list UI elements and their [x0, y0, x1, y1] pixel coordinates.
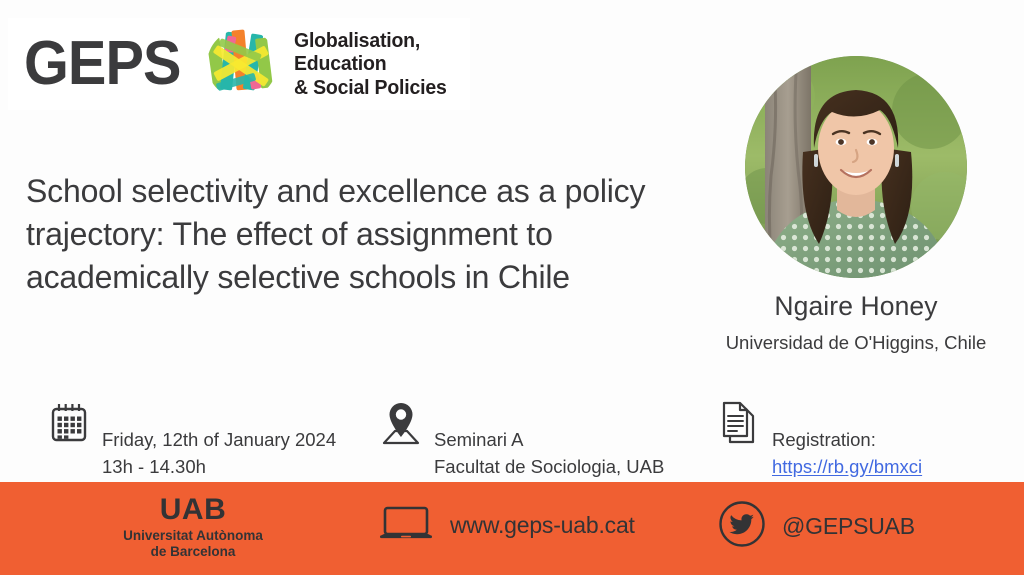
uab-logo: UAB Universitat Autònoma de Barcelona: [108, 494, 278, 560]
speaker-photo: [745, 56, 967, 278]
geps-logo-block: GEPS: [8, 18, 470, 110]
geps-circle-logo-icon: [206, 28, 278, 100]
venue-line1: Seminari A: [434, 429, 523, 450]
speaker-name: Ngaire Honey: [700, 291, 1012, 322]
document-icon: [716, 397, 762, 449]
calendar-icon: [46, 397, 92, 449]
geps-wordmark: GEPS: [24, 33, 181, 95]
venue-line2: Facultat de Sociologia, UAB: [434, 454, 664, 481]
date-line1: Friday, 12th of January 2024: [102, 429, 336, 450]
page-title: School selectivity and excellence as a p…: [26, 170, 702, 299]
registration-label: Registration:: [772, 429, 876, 450]
geps-tagline: Globalisation, Education & Social Polici…: [294, 29, 461, 99]
seminar-poster: GEPS: [0, 0, 1024, 575]
footer-band: UAB Universitat Autònoma de Barcelona ww…: [0, 482, 1024, 575]
footer-website[interactable]: www.geps-uab.cat: [378, 504, 635, 547]
footer-social[interactable]: @GEPSUAB: [718, 500, 915, 553]
date-line2: 13h - 14.30h: [102, 454, 336, 481]
twitter-icon: [718, 500, 766, 553]
uab-wordmark: UAB: [108, 494, 278, 526]
registration-link[interactable]: https://rb.gy/bmxci: [772, 454, 922, 481]
map-pin-icon: [378, 397, 424, 449]
speaker-affiliation: Universidad de O'Higgins, Chile: [690, 332, 1022, 354]
laptop-icon: [378, 504, 434, 547]
info-row: Friday, 12th of January 2024 13h - 14.30…: [0, 395, 1024, 467]
uab-subtitle: Universitat Autònoma de Barcelona: [108, 528, 278, 561]
website-url[interactable]: www.geps-uab.cat: [450, 512, 635, 539]
social-handle[interactable]: @GEPSUAB: [782, 513, 915, 540]
